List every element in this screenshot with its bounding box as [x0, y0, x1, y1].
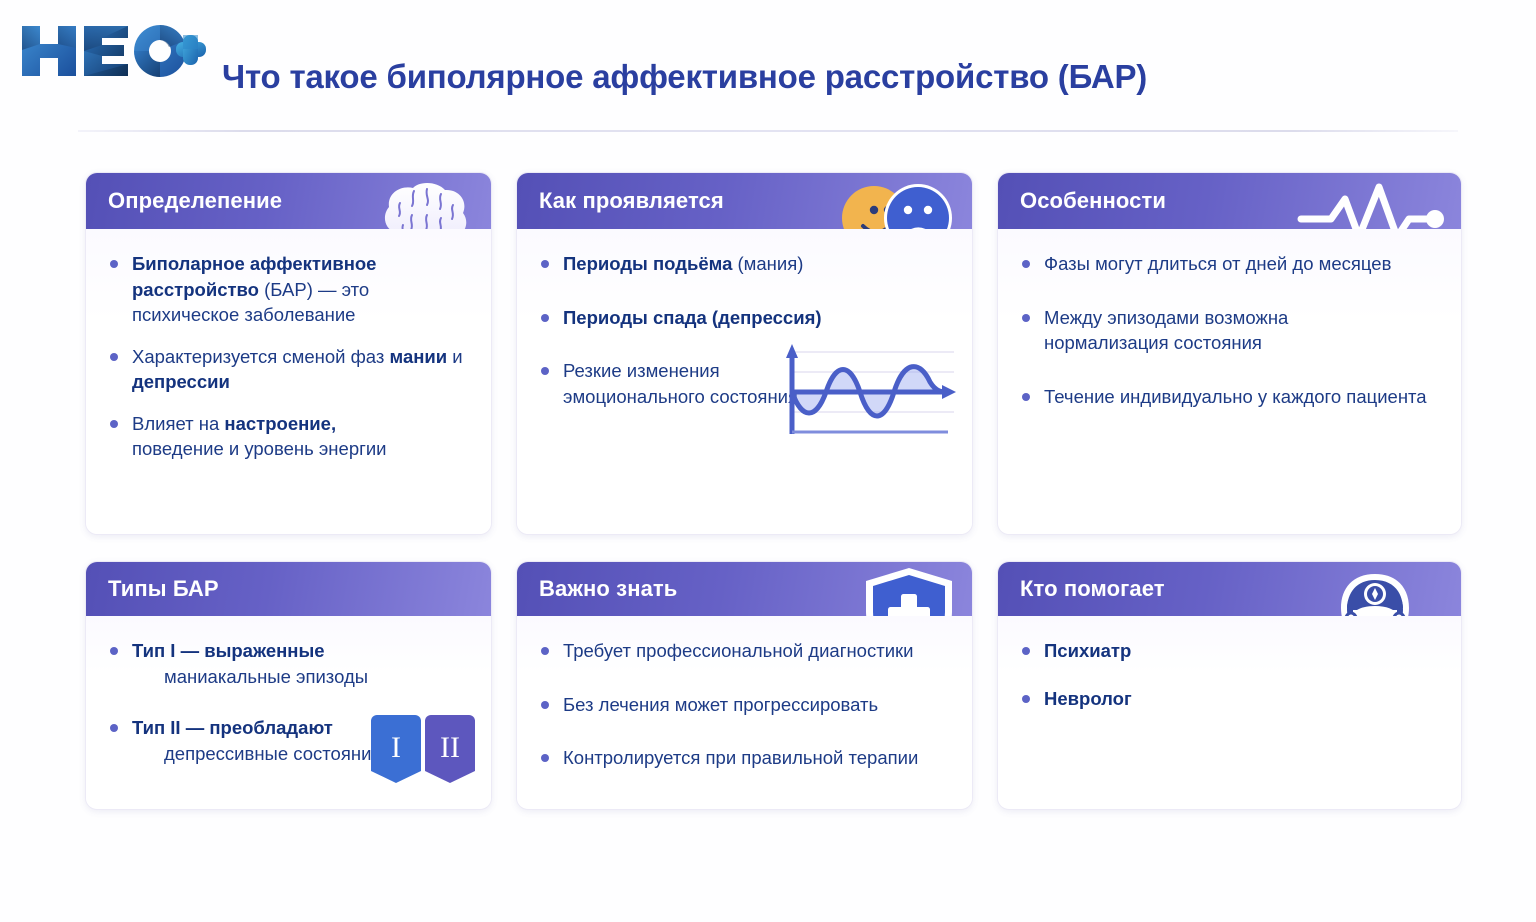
card-body-definition: Биполарное аффективное расстройство (БАР… [86, 229, 491, 534]
card-header-types: Типы БАР [86, 562, 491, 616]
bullet-strong: Тип I — выраженные [132, 640, 325, 661]
roman-numeral-badges-icon: I II [367, 713, 479, 785]
badge-one-label: I [391, 731, 401, 764]
list-item: Между эпизодами возможна нормализация со… [1020, 305, 1441, 356]
badge-two-label: II [440, 731, 460, 764]
bullet-text: Резкие изменения [563, 360, 720, 381]
card-body-who-helps: Психиатр Невролог [998, 616, 1461, 807]
bullet-text: Характеризуется сменой фаз [132, 346, 390, 367]
bullet-text: Влияет на [132, 413, 224, 434]
bullet-text: Между эпизодами возможна [1044, 307, 1288, 328]
card-body-manifestation: Периоды подьёма (мания) Периоды спада (д… [517, 229, 972, 534]
card-title-features: Особенности [998, 188, 1166, 214]
card-important[interactable]: Важно знать Требует профессиональной диа… [516, 561, 973, 810]
bullet-text: Контролируется при правильной терапии [563, 747, 918, 768]
bullet-subtext: маниакальные эпизоды [132, 664, 471, 690]
emotion-wave-chart-icon [768, 334, 960, 442]
card-features[interactable]: Особенности Фазы могут длиться от дней д… [997, 172, 1462, 535]
card-title-manifestation: Как проявляется [517, 188, 724, 214]
bullet-subtext: нормализация состояния [1044, 330, 1441, 356]
list-item: Периоды спада (депрессия) [539, 305, 952, 331]
bullet-text: Без лечения может прогрессировать [563, 694, 878, 715]
bullet-strong: мании [390, 346, 448, 367]
list-item: Психиатр [1020, 638, 1441, 664]
header-divider [78, 130, 1458, 132]
page-title: Что такое биполярное аффективное расстро… [222, 58, 1147, 96]
bullet-list-features: Фазы могут длиться от дней до месяцев Ме… [1020, 251, 1441, 409]
card-grid: Определепение [85, 172, 1457, 810]
list-item: Фазы могут длиться от дней до месяцев [1020, 251, 1441, 277]
card-title-definition: Определепение [86, 188, 282, 214]
card-header-manifestation: Как проявляется [517, 173, 972, 229]
card-header-features: Особенности [998, 173, 1461, 229]
bullet-subtext: поведение и уровень энергии [132, 436, 471, 462]
bullet-list-definition: Биполарное аффективное расстройство (БАР… [108, 251, 471, 462]
card-header-who-helps: Кто помогает [998, 562, 1461, 616]
list-item: Невролог [1020, 686, 1441, 712]
list-item: Влияет на настроение, поведение и уровен… [108, 411, 471, 462]
bullet-text: Фазы могут длиться от дней до месяцев [1044, 253, 1391, 274]
list-item: Требует профессиональной диагностики [539, 638, 952, 664]
bullet-text: и [447, 346, 462, 367]
list-item: Контролируется при правильной терапии [539, 745, 952, 771]
card-definition[interactable]: Определепение [85, 172, 492, 535]
bullet-text: Требует профессиональной диагностики [563, 640, 913, 661]
list-item: Без лечения может прогрессировать [539, 692, 952, 718]
bullet-list-who-helps: Психиатр Невролог [1020, 638, 1441, 711]
list-item: Течение индивидуально у каждого пациента [1020, 384, 1441, 410]
page-header: Что такое биполярное аффективное расстро… [0, 0, 1536, 130]
infographic-page: Что такое биполярное аффективное расстро… [0, 0, 1536, 922]
bullet-list-important: Требует профессиональной диагностики Без… [539, 638, 952, 771]
card-header-definition: Определепение [86, 173, 491, 229]
card-who-helps[interactable]: Кто помогает [997, 561, 1462, 810]
list-item: Тип I — выраженные маниакальные эпизоды [108, 638, 471, 689]
list-item: Периоды подьёма (мания) [539, 251, 952, 277]
bullet-strong: Периоды спада (депрессия) [563, 307, 822, 328]
card-header-important: Важно знать [517, 562, 972, 616]
card-body-types: Тип I — выраженные маниакальные эпизоды … [86, 616, 491, 807]
neo-plus-logo [16, 18, 206, 80]
bullet-strong: Психиатр [1044, 640, 1131, 661]
bullet-strong: депрессии [132, 371, 230, 392]
bullet-strong: Тип II — преобладают [132, 717, 333, 738]
card-title-important: Важно знать [517, 576, 677, 602]
bullet-text: (мания) [732, 253, 803, 274]
bullet-text: Течение индивидуально у каждого пациента [1044, 386, 1427, 407]
bullet-strong: Периоды подьёма [563, 253, 732, 274]
card-manifestation[interactable]: Как проявляется [516, 172, 973, 535]
card-types[interactable]: Типы БАР Тип I — выраженные маниакальные… [85, 561, 492, 810]
card-body-features: Фазы могут длиться от дней до месяцев Ме… [998, 229, 1461, 534]
bullet-strong: Невролог [1044, 688, 1132, 709]
card-body-important: Требует профессиональной диагностики Без… [517, 616, 972, 807]
card-title-who-helps: Кто помогает [998, 576, 1165, 602]
card-title-types: Типы БАР [86, 576, 219, 602]
list-item: Характеризуется сменой фаз мании и депре… [108, 344, 471, 395]
list-item: Биполарное аффективное расстройство (БАР… [108, 251, 471, 328]
bullet-strong: настроение, [224, 413, 336, 434]
